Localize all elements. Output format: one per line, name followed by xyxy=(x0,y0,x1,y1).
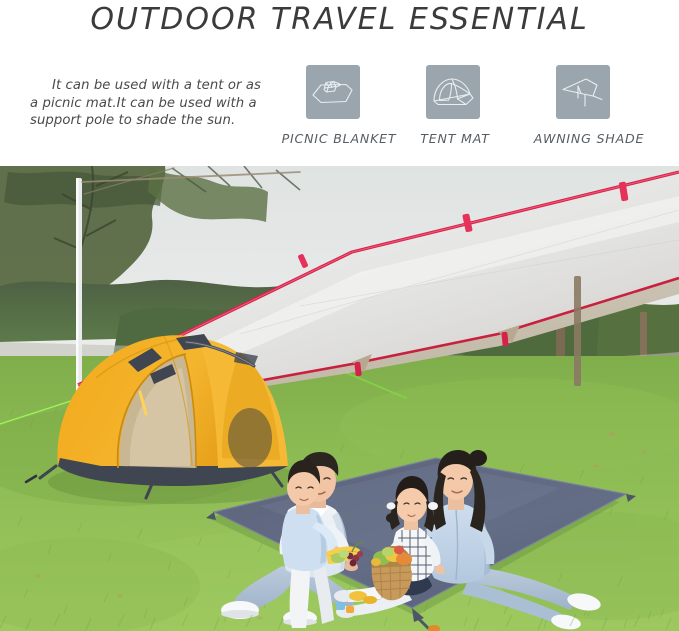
tent-mat-icon xyxy=(426,65,480,119)
awning-shade-icon xyxy=(556,65,610,119)
photo-canvas xyxy=(0,166,679,631)
feature-label-picnic-blanket: PICNIC BLANKET xyxy=(278,131,400,146)
product-infographic-page: OUTDOOR TRAVEL ESSENTIAL It can be used … xyxy=(0,0,679,631)
feature-item-tent-mat: TENT MAT xyxy=(400,65,510,146)
description-paragraph: It can be used with a tent or as a picni… xyxy=(30,77,262,130)
feature-item-picnic-blanket: PICNIC BLANKET xyxy=(278,65,400,146)
feature-item-awning-shade: AWNING SHADE xyxy=(510,65,668,146)
feature-list: PICNIC BLANKET xyxy=(278,65,668,165)
feature-label-awning-shade: AWNING SHADE xyxy=(510,131,668,146)
header-divider xyxy=(0,164,679,165)
feature-label-tent-mat: TENT MAT xyxy=(400,131,510,146)
page-title: OUTDOOR TRAVEL ESSENTIAL xyxy=(0,2,679,37)
family-camping-photo xyxy=(0,166,679,631)
picnic-blanket-icon xyxy=(306,65,360,119)
